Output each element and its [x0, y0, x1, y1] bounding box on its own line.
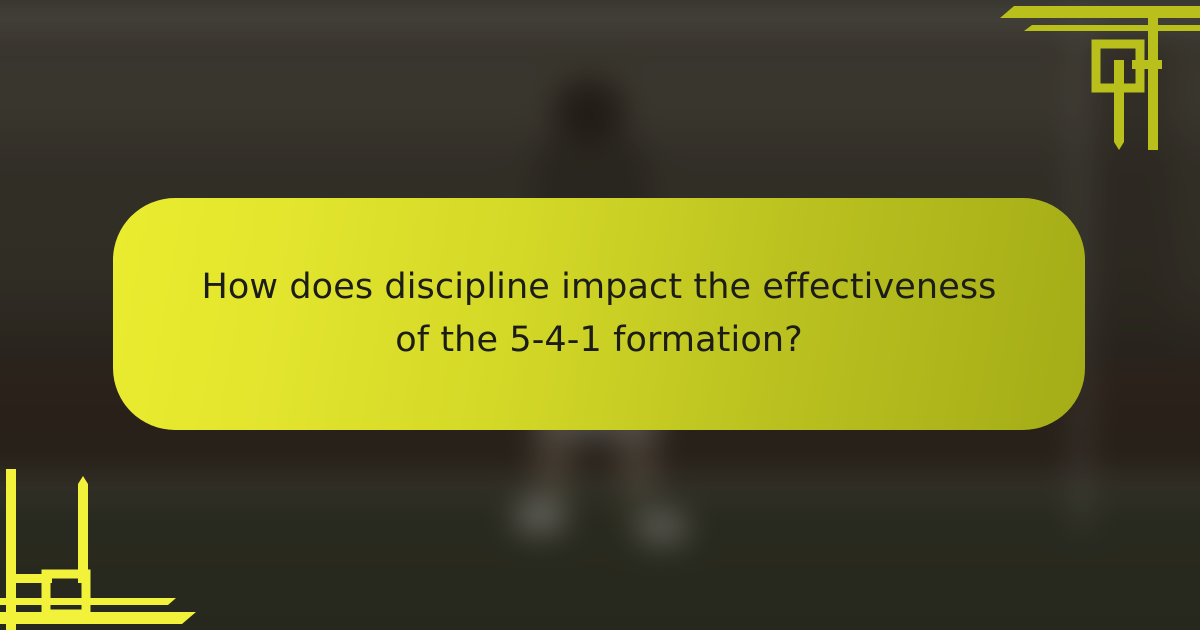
question-card: How does discipline impact the effective…	[113, 198, 1085, 430]
promo-card-canvas: How does discipline impact the effective…	[0, 0, 1200, 630]
question-text: How does discipline impact the effective…	[199, 261, 999, 367]
